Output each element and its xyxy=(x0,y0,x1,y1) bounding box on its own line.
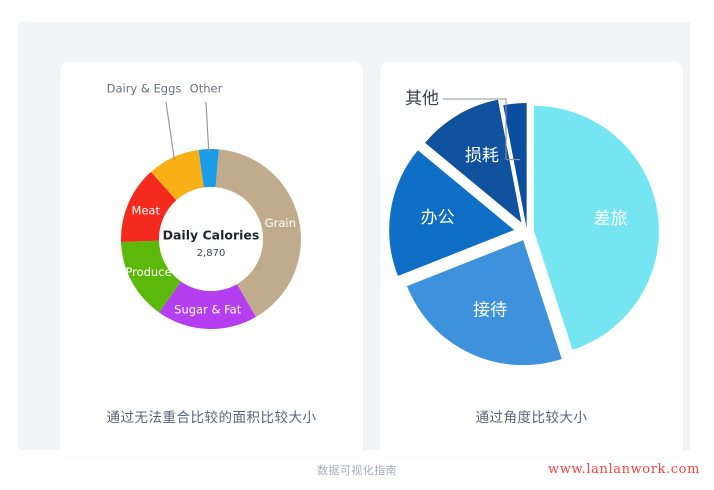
pie-slice-label-3: 办公 xyxy=(421,208,455,228)
chart-card-pie[interactable]: 差旅接待办公损耗其他 通过角度比较大小 xyxy=(380,62,683,457)
pie-chart[interactable]: 差旅接待办公损耗其他 xyxy=(380,62,683,402)
chart-card-donut[interactable]: GrainSugar & FatProduceMeatDairy & EggsO… xyxy=(60,62,363,457)
donut-slice-label-3: Produce xyxy=(125,265,171,279)
card-caption-left: 通过无法重合比较的面积比较大小 xyxy=(60,406,363,426)
donut-center-title: Daily Calories xyxy=(163,228,260,243)
pie-slice-label-4: 损耗 xyxy=(465,146,499,166)
pie-outside-label-5: 其他 xyxy=(405,89,439,109)
donut-outside-label-5: Dairy & Eggs xyxy=(107,82,182,96)
content-panel: GrainSugar & FatProduceMeatDairy & EggsO… xyxy=(18,22,690,450)
donut-leader-line-6 xyxy=(206,102,209,152)
donut-leader-line-5 xyxy=(166,102,174,160)
pie-slice-label-1: 差旅 xyxy=(593,209,627,229)
donut-slice-label-2: Sugar & Fat xyxy=(174,302,242,316)
donut-slice-label-4: Meat xyxy=(131,204,160,218)
screenshot-stage: GrainSugar & FatProduceMeatDairy & EggsO… xyxy=(0,0,714,490)
pie-slice-group[interactable] xyxy=(389,100,659,365)
donut-chart[interactable]: GrainSugar & FatProduceMeatDairy & EggsO… xyxy=(60,62,363,402)
footer-url: www.lanlanwork.com xyxy=(548,462,700,477)
donut-outside-label-6: Other xyxy=(190,82,223,96)
card-caption-right: 通过角度比较大小 xyxy=(380,406,683,426)
donut-slice-label-1: Grain xyxy=(265,216,296,230)
donut-center-value: 2,870 xyxy=(197,248,226,259)
pie-slice-label-2: 接待 xyxy=(473,300,507,320)
